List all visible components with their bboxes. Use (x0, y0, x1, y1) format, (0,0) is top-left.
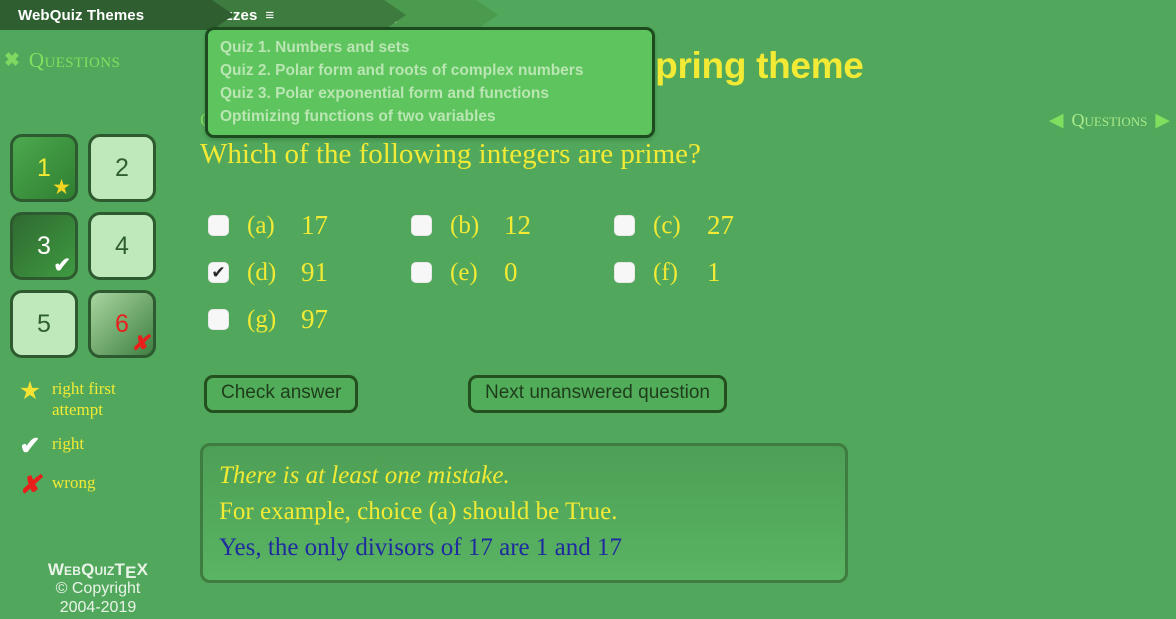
answer-value-d: 91 (301, 257, 328, 288)
answer-option-e[interactable]: (e) 0 (411, 257, 614, 288)
answer-letter-g: (g) (247, 306, 293, 334)
answer-option-c[interactable]: (c) 27 (614, 210, 817, 241)
answer-letter-b: (b) (450, 212, 496, 240)
feedback-line-1: There is at least one mistake. (219, 458, 829, 494)
checkbox-g[interactable] (208, 309, 229, 330)
star-icon: ★ (8, 378, 52, 404)
question-button-3[interactable]: 3 ✔ (10, 212, 78, 280)
question-button-4-number: 4 (115, 232, 129, 261)
checkbox-e[interactable] (411, 262, 432, 283)
feedback-box: There is at least one mistake. For examp… (200, 443, 848, 583)
brand-e: e (125, 563, 137, 582)
check-answer-button[interactable]: Check answer (204, 375, 358, 413)
legend-label-right: right (52, 433, 84, 454)
feedback-line-2: For example, choice (a) should be True. (219, 494, 829, 530)
answer-row: (a) 17 (b) 12 (c) 27 (208, 202, 828, 249)
answer-option-d[interactable]: ✔ (d) 91 (208, 257, 411, 288)
legend-item-right: ✔ right (8, 433, 144, 459)
question-button-1-number: 1 (37, 154, 51, 183)
dropdown-item-optimizing[interactable]: Optimizing functions of two variables (208, 105, 652, 128)
feedback-line-3: Yes, the only divisors of 17 are 1 and 1… (219, 530, 829, 566)
answer-row: (g) 97 (208, 296, 828, 343)
check-icon: ✔ (53, 255, 71, 276)
answer-value-c: 27 (707, 210, 734, 241)
question-text: Which of the following integers are prim… (200, 138, 701, 171)
answer-option-f[interactable]: (f) 1 (614, 257, 817, 288)
legend-label-right-first: right first attempt (52, 378, 144, 420)
prev-question-icon[interactable]: ◀ (1049, 111, 1064, 130)
brand-webquiz: WebQuiz (48, 560, 115, 579)
question-button-4[interactable]: 4 (88, 212, 156, 280)
brand-t: T (114, 560, 125, 579)
answer-option-b[interactable]: (b) 12 (411, 210, 614, 241)
question-button-2-number: 2 (115, 154, 129, 183)
dropdown-item-quiz3[interactable]: Quiz 3. Polar exponential form and funct… (208, 82, 652, 105)
legend-label-wrong: wrong (52, 472, 95, 493)
sidebar-questions-header: ✖ Questions (4, 48, 120, 73)
question-button-6[interactable]: 6 ✘ (88, 290, 156, 358)
cross-icon: ✘ (8, 472, 52, 498)
question-button-grid: 1 ★ 2 3 ✔ 4 5 6 ✘ (10, 134, 156, 358)
breadcrumb: WebQuiz Themes Quizzes ≡ spring (0, 0, 1176, 30)
question-button-5[interactable]: 5 (10, 290, 78, 358)
question-button-2[interactable]: 2 (88, 134, 156, 202)
close-icon[interactable]: ✖ (4, 51, 20, 70)
answer-value-g: 97 (301, 304, 328, 335)
brand-x: X (137, 560, 149, 579)
breadcrumb-item-themes[interactable]: WebQuiz Themes (0, 0, 234, 30)
question-nav: ◀ Questions ▶ (1049, 110, 1170, 131)
next-unanswered-question-button[interactable]: Next unanswered question (468, 375, 727, 413)
answer-row: ✔ (d) 91 (e) 0 (f) 1 (208, 249, 828, 296)
answer-value-e: 0 (504, 257, 518, 288)
answer-letter-a: (a) (247, 212, 293, 240)
checkbox-a[interactable] (208, 215, 229, 236)
checkbox-b[interactable] (411, 215, 432, 236)
legend-item-wrong: ✘ wrong (8, 472, 144, 498)
legend: ★ right first attempt ✔ right ✘ wrong (8, 378, 144, 511)
dropdown-item-quiz2[interactable]: Quiz 2. Polar form and roots of complex … (208, 59, 652, 82)
copyright-text: © Copyright (0, 579, 196, 598)
cross-icon: ✘ (131, 333, 149, 354)
answer-option-g[interactable]: (g) 97 (208, 304, 411, 335)
sidebar-questions-label: Questions (29, 48, 120, 73)
dropdown-item-quiz1[interactable]: Quiz 1. Numbers and sets (208, 36, 652, 59)
copyright-years: 2004-2019 (0, 598, 196, 617)
answer-value-a: 17 (301, 210, 328, 241)
question-nav-label: Questions (1072, 110, 1148, 131)
footer: WebQuizTeX © Copyright 2004-2019 (0, 560, 196, 617)
brand-logo: WebQuizTeX (0, 560, 196, 579)
checkbox-d[interactable]: ✔ (208, 262, 229, 283)
star-icon: ★ (52, 177, 71, 198)
answer-options: (a) 17 (b) 12 (c) 27 ✔ (d) 91 (e) 0 (f) … (208, 202, 828, 343)
answer-letter-c: (c) (653, 212, 699, 240)
breadcrumb-label-themes: WebQuiz Themes (18, 7, 144, 24)
question-button-3-number: 3 (37, 232, 51, 261)
checkbox-f[interactable] (614, 262, 635, 283)
question-button-5-number: 5 (37, 310, 51, 339)
answer-value-b: 12 (504, 210, 531, 241)
question-button-6-number: 6 (115, 310, 129, 339)
answer-letter-e: (e) (450, 259, 496, 287)
answer-option-a[interactable]: (a) 17 (208, 210, 411, 241)
legend-item-right-first: ★ right first attempt (8, 378, 144, 420)
hamburger-icon[interactable]: ≡ (265, 8, 274, 23)
check-icon: ✔ (8, 433, 52, 459)
answer-value-f: 1 (707, 257, 721, 288)
quiz-dropdown-menu[interactable]: Quiz 1. Numbers and sets Quiz 2. Polar f… (205, 27, 655, 138)
checkbox-c[interactable] (614, 215, 635, 236)
question-button-1[interactable]: 1 ★ (10, 134, 78, 202)
answer-letter-d: (d) (247, 259, 293, 287)
answer-letter-f: (f) (653, 259, 699, 287)
next-question-icon[interactable]: ▶ (1155, 111, 1170, 130)
